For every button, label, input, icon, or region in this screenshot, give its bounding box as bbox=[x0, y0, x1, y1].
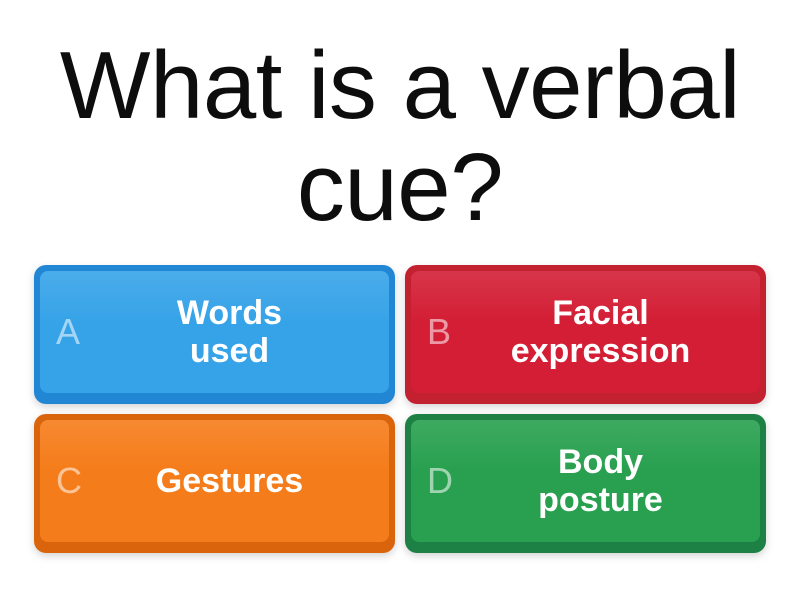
answer-option-c-face: C Gestures bbox=[40, 420, 389, 542]
answer-option-b[interactable]: B Facial expression bbox=[405, 265, 766, 404]
answer-option-b-face: B Facial expression bbox=[411, 271, 760, 393]
answer-label-a: Words used bbox=[40, 294, 389, 371]
answer-option-a-face: A Words used bbox=[40, 271, 389, 393]
question-text: What is a verbal cue? bbox=[40, 35, 760, 239]
question-area: What is a verbal cue? bbox=[0, 26, 800, 248]
quiz-slide: What is a verbal cue? A Words used B Fac… bbox=[0, 0, 800, 600]
answer-option-d-face: D Body posture bbox=[411, 420, 760, 542]
answer-label-b: Facial expression bbox=[411, 294, 760, 371]
answer-option-c[interactable]: C Gestures bbox=[34, 414, 395, 553]
answer-label-c: Gestures bbox=[40, 462, 389, 500]
answer-options-grid: A Words used B Facial expression C Gestu… bbox=[34, 265, 766, 553]
answer-label-d: Body posture bbox=[411, 443, 760, 520]
answer-option-a[interactable]: A Words used bbox=[34, 265, 395, 404]
answer-option-d[interactable]: D Body posture bbox=[405, 414, 766, 553]
